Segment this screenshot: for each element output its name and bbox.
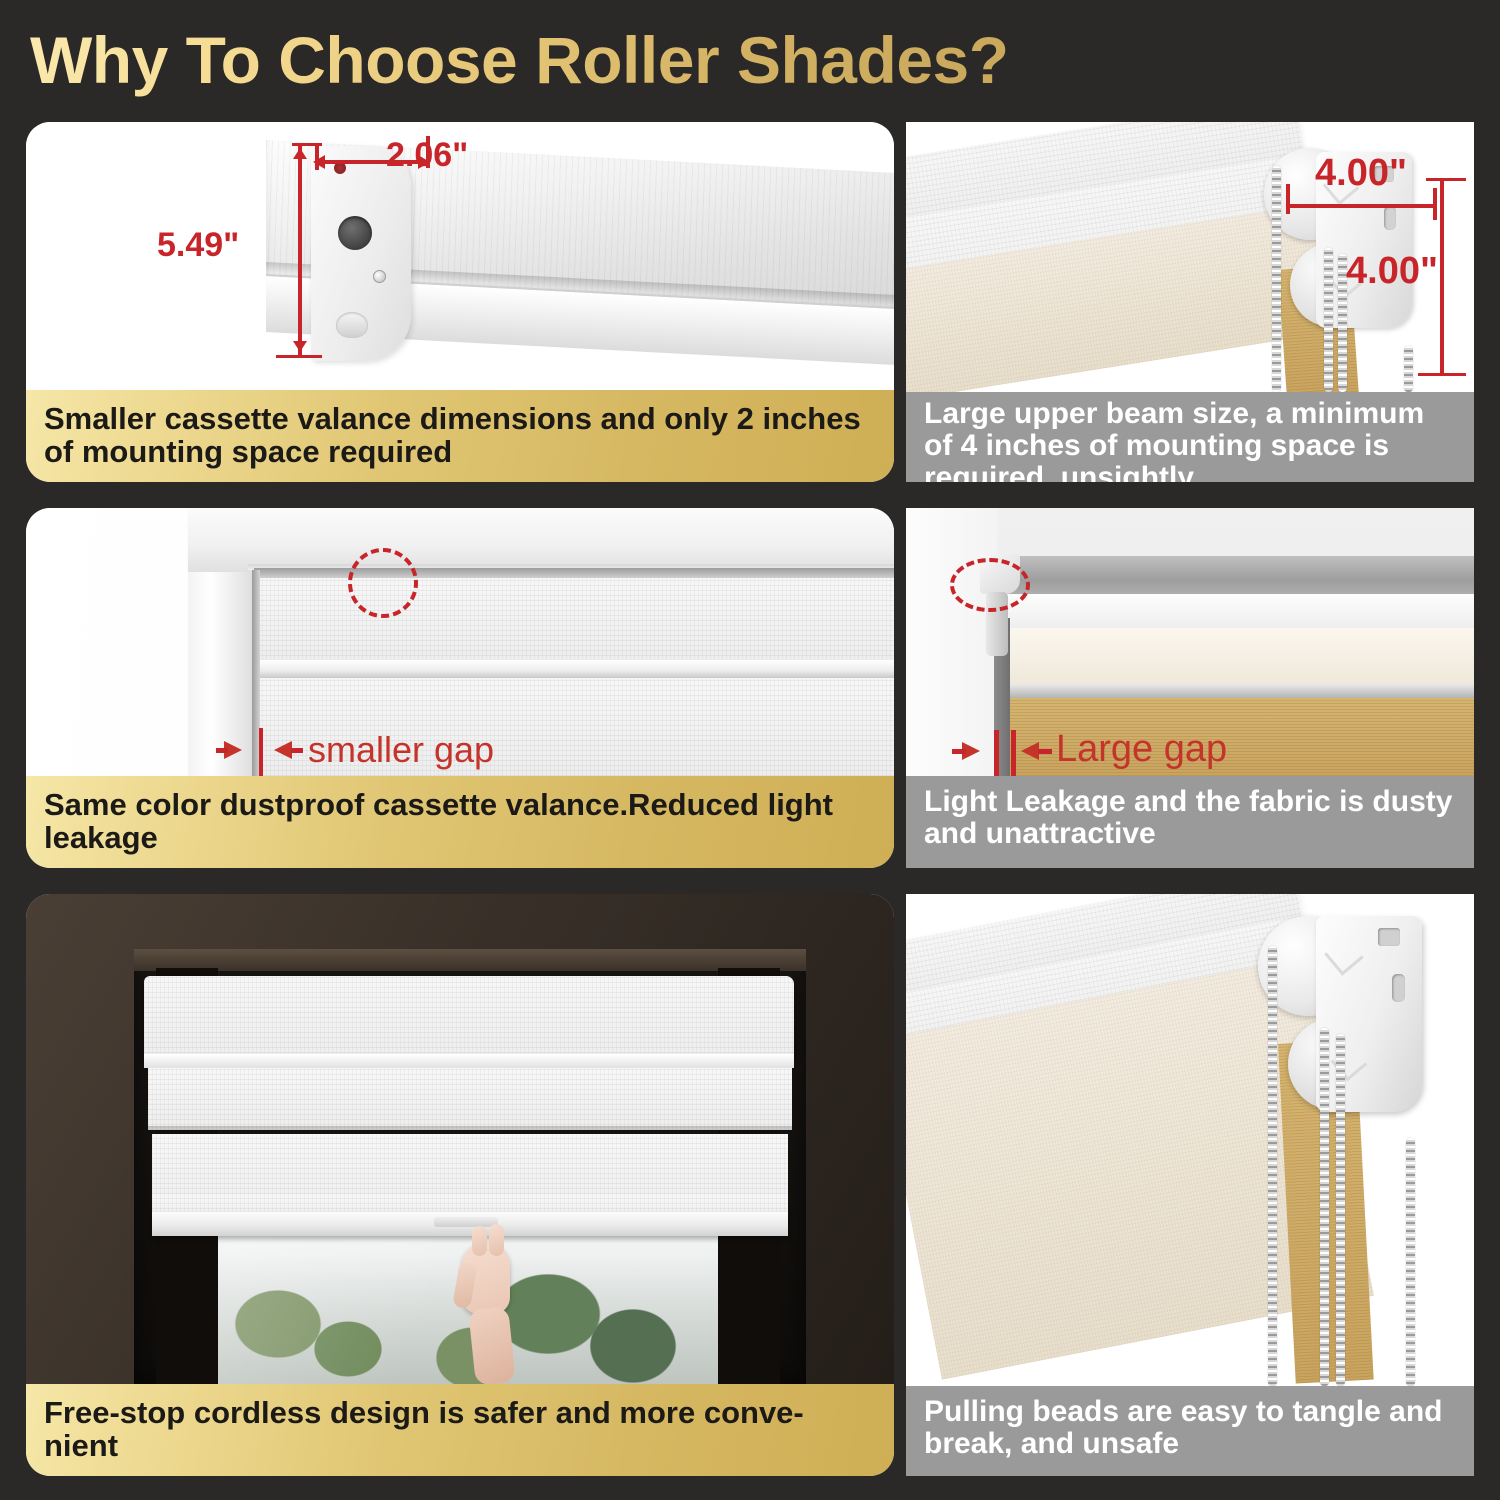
gap-marker-line: [259, 728, 263, 776]
bead-chain-mid[interactable]: [1320, 1028, 1329, 1386]
beam-width-dimension-label: 4.00": [1315, 152, 1407, 195]
gap-arrow-left-stem: [952, 749, 966, 754]
dustproof-valance-photo: smaller gap: [26, 508, 894, 776]
cassette-end-cap: [311, 146, 411, 361]
panel-caption: Pulling beads are easy to tangle and bre…: [906, 1386, 1474, 1476]
bead-chain-back[interactable]: [1336, 1034, 1345, 1386]
gap-arrow-right: [274, 741, 292, 759]
shade-band-shadow: [148, 1126, 792, 1134]
height-dimension-label: 5.49": [157, 226, 239, 265]
gap-marker-line-left: [994, 730, 999, 776]
panel-pulling-beads: Pulling beads are easy to tangle and bre…: [906, 894, 1474, 1476]
upper-beam-photo: 4.00" 4.00": [906, 122, 1474, 392]
page-title: Why To Choose Roller Shades?: [30, 22, 1009, 98]
endcap-screw-mid: [373, 270, 386, 283]
gap-arrow-right: [1021, 742, 1039, 760]
pulling-beads-photo: [906, 894, 1474, 1386]
bead-chain-loose[interactable]: [1404, 346, 1413, 392]
gap-arrow-right-stem: [1038, 749, 1052, 754]
beam-width-tick-right: [1433, 188, 1437, 220]
valance-face-cream: [998, 628, 1474, 686]
light-leakage-photo: Large gap: [906, 508, 1474, 776]
beam-height-tick-bottom: [1418, 373, 1466, 376]
panel-caption: Smaller cassette valance dimensions and …: [26, 390, 894, 482]
endcap-clutch-slot: [338, 216, 372, 250]
panel-upper-beam-size: 4.00" 4.00" Large upper beam size, a min…: [906, 122, 1474, 482]
gap-arrow-left-stem: [216, 748, 228, 753]
panel-light-leakage: Large gap Light Leakage and the fabric i…: [906, 508, 1474, 868]
roller-bracket: [1258, 912, 1438, 1142]
panel-caption: Free-stop cordless design is safer and m…: [26, 1384, 894, 1476]
hand-pulling-shade: [456, 1224, 526, 1384]
bead-chain-front[interactable]: [1268, 946, 1277, 1386]
panel-dustproof-valance: smaller gap Same color dustproof cassett…: [26, 508, 894, 868]
cassette-valance-photo: 2.06" 5.49": [26, 122, 894, 390]
height-tick-top: [292, 143, 322, 146]
panel-caption: Large upper beam size, a minimum of 4 in…: [906, 392, 1474, 482]
window-recess-top-trim: [134, 949, 806, 971]
panel-caption: Same color dustproof cassette valance.Re…: [26, 776, 894, 868]
bracket-emboss-arrow-top: [1324, 936, 1363, 975]
window-frame-top: [188, 508, 894, 572]
wall-left-white: [906, 508, 998, 776]
bracket-slot-top: [1378, 928, 1400, 946]
bead-chain-mid[interactable]: [1324, 248, 1333, 392]
cordless-design-photo: [26, 894, 894, 1384]
valance-bottom-rail: [254, 660, 894, 678]
hand-finger-middle: [489, 1224, 504, 1256]
bracket-slot-mid: [1384, 206, 1396, 230]
beam-height-dimension-line: [1440, 180, 1444, 376]
endcap-lower-pin: [336, 312, 368, 338]
hand-finger-index: [472, 1226, 487, 1256]
bracket-slot-mid: [1392, 974, 1405, 1002]
width-tick-left: [315, 144, 319, 170]
valance-bottom-metal: [998, 684, 1474, 698]
bead-chain-front[interactable]: [1272, 166, 1281, 392]
beam-height-tick-top: [1426, 178, 1466, 181]
valance-lower-lip: [144, 1054, 794, 1068]
bracket-plate: [1316, 916, 1422, 1112]
height-dimension-line: [298, 144, 302, 358]
width-dimension-label: 2.06": [386, 136, 468, 175]
gap-arrow-right-stem: [291, 748, 303, 753]
gap-highlight-circle: [950, 558, 1030, 612]
bead-chain-loose[interactable]: [1406, 1138, 1415, 1386]
panel-caption: Light Leakage and the fabric is dusty an…: [906, 776, 1474, 868]
height-arrow-bottom: [293, 341, 307, 352]
beam-width-tick-left: [1286, 184, 1290, 214]
panel-cassette-dimensions: 2.06" 5.49" Smaller cassette valance dim…: [26, 122, 894, 482]
hand-wrist: [468, 1306, 516, 1384]
beam-width-dimension-line: [1288, 204, 1436, 208]
cassette-valance: [144, 976, 794, 1058]
beam-height-dimension-label: 4.00": [1346, 250, 1438, 293]
gap-highlight-circle: [348, 548, 418, 618]
shade-fabric-band: [148, 1068, 792, 1130]
gap-callout-label: Large gap: [1056, 728, 1227, 771]
gap-callout-label: smaller gap: [308, 729, 494, 771]
panel-cordless-design: Free-stop cordless design is safer and m…: [26, 894, 894, 1476]
gap-marker-line-right: [1011, 730, 1016, 776]
height-arrow-top: [293, 148, 307, 159]
height-tick-bottom: [276, 355, 322, 358]
